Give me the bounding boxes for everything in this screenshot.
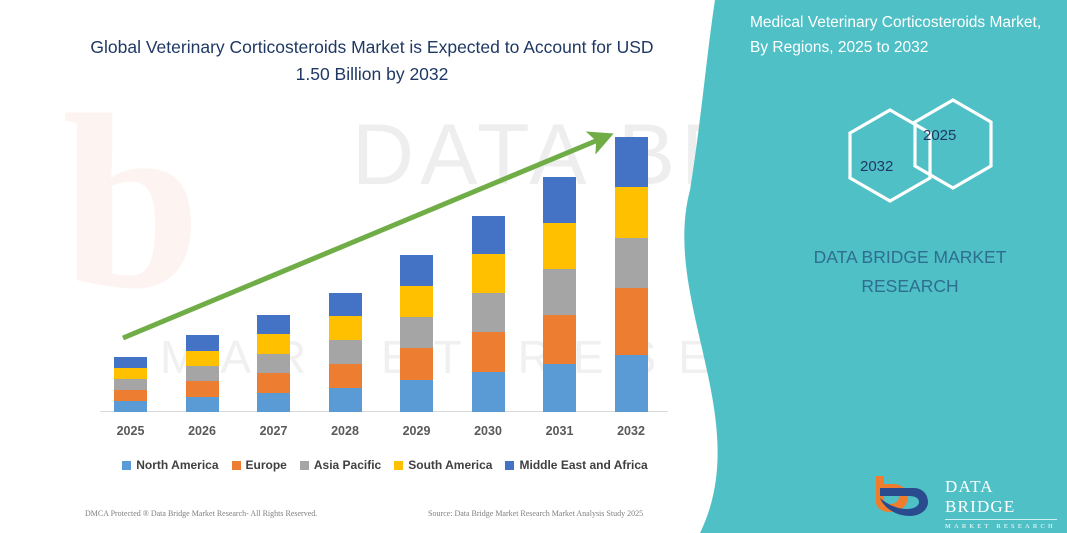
bar-group (257, 315, 290, 412)
bar-segment (186, 381, 219, 397)
bar-segment (615, 288, 648, 355)
bar-group (472, 216, 505, 412)
legend-item[interactable]: North America (122, 458, 218, 472)
bar-plot (100, 120, 675, 412)
data-bridge-logo: DATA BRIDGE MARKET RESEARCH (870, 472, 1055, 522)
bar-segment (615, 238, 648, 288)
x-axis-label: 2027 (244, 424, 304, 438)
bar-segment (329, 364, 362, 388)
chart-title: Global Veterinary Corticosteroids Market… (72, 34, 672, 88)
footer-source-text: Source: Data Bridge Market Research Mark… (428, 509, 643, 518)
bar-segment (543, 364, 576, 412)
bar-segment (329, 340, 362, 364)
bar-segment (257, 354, 290, 373)
legend-item[interactable]: South America (394, 458, 492, 472)
bar-segment (329, 316, 362, 340)
bar-segment (329, 388, 362, 412)
x-axis-label: 2028 (315, 424, 375, 438)
panel-title: Medical Veterinary Corticosteroids Marke… (750, 10, 1050, 60)
legend-label: South America (408, 458, 492, 472)
legend-item[interactable]: Middle East and Africa (505, 458, 647, 472)
bar-segment (543, 269, 576, 315)
hexagon-outline-icon (830, 98, 1060, 213)
bar-segment (114, 368, 147, 379)
panel-brand-text: DATA BRIDGE MARKET RESEARCH (785, 243, 1035, 301)
bar-segment (114, 357, 147, 368)
bar-segment (543, 315, 576, 364)
legend-swatch-icon (122, 461, 131, 470)
legend-label: Middle East and Africa (519, 458, 647, 472)
bar-segment (543, 223, 576, 269)
bar-segment (257, 334, 290, 354)
bar-segment (257, 315, 290, 334)
logo-mark-icon (870, 472, 940, 520)
bar-segment (400, 348, 433, 380)
x-axis-labels: 20252026202720282029203020312032 (100, 424, 675, 444)
bar-segment (615, 355, 648, 412)
x-axis-label: 2030 (458, 424, 518, 438)
hexagon-label-2025: 2025 (923, 127, 956, 144)
legend-swatch-icon (232, 461, 241, 470)
x-axis-label: 2025 (101, 424, 161, 438)
bar-group (543, 177, 576, 412)
bar-segment (329, 293, 362, 316)
bar-group (615, 137, 648, 412)
bar-group (400, 255, 433, 412)
bar-segment (257, 373, 290, 393)
legend-swatch-icon (300, 461, 309, 470)
chart-legend: North AmericaEuropeAsia PacificSouth Ame… (95, 455, 675, 475)
bar-group (329, 293, 362, 412)
hexagon-badges: 2032 2025 (830, 98, 1060, 213)
hexagon-label-2032: 2032 (860, 158, 893, 175)
bar-group (114, 357, 147, 412)
bar-segment (400, 317, 433, 348)
bar-segment (615, 187, 648, 238)
bar-segment (257, 393, 290, 412)
logo-divider (945, 519, 1057, 520)
bar-segment (186, 366, 219, 381)
chart-area (100, 120, 675, 420)
x-axis-label: 2031 (530, 424, 590, 438)
infographic-root: b DATA BRIDGE MARKET RESEARCH Global Vet… (0, 0, 1067, 533)
bar-segment (472, 372, 505, 412)
x-axis-label: 2026 (172, 424, 232, 438)
bar-segment (186, 335, 219, 351)
bar-segment (114, 401, 147, 412)
bar-segment (400, 255, 433, 286)
footer-dmca-text: DMCA Protected ® Data Bridge Market Rese… (85, 509, 317, 518)
footer: DMCA Protected ® Data Bridge Market Rese… (0, 505, 690, 527)
bar-segment (472, 216, 505, 254)
legend-label: Asia Pacific (314, 458, 381, 472)
bar-segment (615, 137, 648, 187)
bar-segment (400, 380, 433, 412)
logo-text-block: DATA BRIDGE MARKET RESEARCH (945, 477, 1057, 530)
legend-swatch-icon (505, 461, 514, 470)
x-axis-label: 2032 (601, 424, 661, 438)
legend-label: Europe (246, 458, 287, 472)
legend-label: North America (136, 458, 218, 472)
legend-item[interactable]: Asia Pacific (300, 458, 381, 472)
legend-swatch-icon (394, 461, 403, 470)
bar-segment (186, 351, 219, 366)
bar-segment (114, 379, 147, 390)
right-panel: Medical Veterinary Corticosteroids Marke… (655, 0, 1067, 533)
bar-segment (472, 332, 505, 372)
bar-segment (472, 293, 505, 332)
bar-segment (472, 254, 505, 293)
bar-segment (543, 177, 576, 223)
x-axis-label: 2029 (387, 424, 447, 438)
bar-group (186, 335, 219, 412)
bar-segment (186, 397, 219, 412)
legend-item[interactable]: Europe (232, 458, 287, 472)
logo-subtitle: MARKET RESEARCH (945, 523, 1057, 530)
logo-name: DATA BRIDGE (945, 477, 1057, 517)
bar-segment (400, 286, 433, 317)
bar-segment (114, 390, 147, 401)
